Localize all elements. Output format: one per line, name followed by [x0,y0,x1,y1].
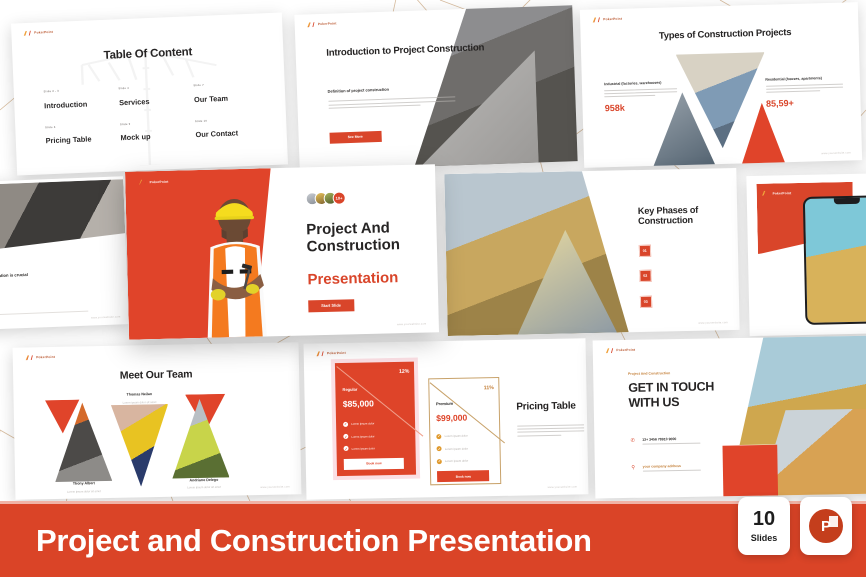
plan-name: Regular [342,387,357,392]
brand-logo: PokerPoint [138,179,169,185]
logo-mark-secondary-icon [29,355,34,360]
file-format-badge: P [800,497,852,555]
hero-title: Project And Construction [306,219,400,256]
section-subtitle: Definition of project construction [328,87,390,94]
toc-item-label: Introduction [44,99,87,110]
bottom-banner: Project and Construction Presentation [0,504,866,577]
toc-grid: Slide 2 - 3 Introduction Slide 4 Service… [44,82,271,149]
slide-count-value: 10 [753,509,775,529]
plan-feature-label: Lorem ipsum dolor [445,434,468,438]
industrial-photo [0,179,126,258]
contact-phone-value: 13+ 3456 78910 9000 [642,437,700,442]
slide-key-phases[interactable]: Key Phases of Construction 01 02 03 www.… [444,168,739,336]
slide-pricing-table[interactable]: PokerPoint 12% Regular $85,000 ✓ Lorem i… [304,338,589,499]
member-name: Thony Albert [44,481,124,487]
page-title: Types of Construction Projects [625,25,825,42]
phase-row: 01 [639,243,736,257]
plan-feature-label: Lorem ipsum dolor [445,459,468,463]
toc-item-number: Slide 9 [120,120,195,126]
logo-text: PokerPoint [603,17,622,22]
discount-badge: 11% [484,385,494,391]
avatar-more-count: 10+ [332,192,345,205]
slide-left-partial[interactable]: Team The coordination is crucial efficie… [0,176,129,332]
start-slide-button[interactable]: Start Slide [308,299,354,312]
slide-mockup[interactable]: PokerPoint Clean Mockup + + [746,172,866,336]
plan-feature: ✓ Lorem ipsum dolor [344,445,410,451]
plan-feature: ✓ Lorem ipsum dolor [437,445,495,451]
phone-icon: ✆ [629,438,636,445]
badge-group: 10 Slides P [738,497,852,555]
toc-item-label: Our Contact [195,129,238,140]
book-now-button-regular[interactable]: Book now [344,458,404,470]
divider [0,311,88,317]
slide-count-label: Slides [751,533,778,543]
page-title: Key Phases of Construction [638,204,732,228]
check-icon: ✓ [344,446,349,451]
member-photo-2 [111,404,170,487]
toc-item-label: Our Team [194,94,228,104]
slide-hero-title[interactable]: PokerPoint 10+ Project And Construction … [125,164,439,340]
column-heading: Industrial (factories, warehouses) [604,80,676,87]
stat-value-residential: 85,59+ [766,97,844,109]
slide-count-badge: 10 Slides [738,497,790,555]
logo-text: PokerPoint [772,191,791,195]
toc-item-our-team[interactable]: Slide 7 Our Team [193,82,269,108]
brand-logo: PokerPoint [22,29,53,35]
watermark: www.yourwebsite.com [91,316,121,320]
logo-text: PokerPoint [616,348,635,352]
avatar-group: 10+ [305,192,345,206]
logo-mark-secondary-icon [311,22,316,27]
brand-logo: PokerPoint [591,17,622,23]
construction-worker-photo [166,188,306,339]
logo-text: PokerPoint [36,355,55,359]
logo-mark-secondary-icon [765,191,770,196]
caption-primary: Team The coordination is crucial [0,270,83,280]
slide-types-of-construction[interactable]: PokerPoint Types of Construction Project… [580,2,862,168]
logo-text: PokerPoint [150,180,169,184]
watermark: www.yourwebsite.com [260,485,290,489]
logo-text: PokerPoint [327,351,346,355]
phone-mockup [803,195,866,325]
plan-name: Premium [436,401,453,406]
brand-logo: PokerPoint [604,348,635,354]
column-industrial: Industrial (factories, warehouses) 958k [604,80,677,114]
check-icon: ✓ [437,434,442,439]
watermark: www.yourwebsite.com [548,485,578,489]
pricing-card-premium[interactable]: 11% Premium $99,000 ✓ Lorem ipsum dolor … [428,377,501,484]
toc-item-our-contact[interactable]: Slide 10 Our Contact [195,117,271,143]
member-photo-3 [171,398,230,478]
toc-item-number: Slide 10 [195,117,270,123]
banner-title: Project and Construction Presentation [36,523,592,559]
watermark: www.yourwebsite.com [821,151,851,155]
discount-badge: 12% [399,369,410,375]
hero-title-accent: Presentation [307,269,398,288]
powerpoint-icon: P [809,509,843,543]
phase-row: 03 [640,294,737,308]
plan-feature-label: Lorem ipsum dolor [351,434,374,438]
pricing-card-regular[interactable]: 12% Regular $85,000 ✓ Lorem ipsum dolor … [335,362,416,476]
phase-number: 02 [639,270,651,282]
plan-feature-label: Lorem ipsum dolor [352,446,375,450]
phone-notch [833,198,860,205]
plan-price: $85,000 [343,399,374,410]
logo-text: PokerPoint [318,22,337,27]
page-title: GET IN TOUCH WITH US [628,378,779,410]
logo-mark-secondary-icon [596,17,601,22]
plan-price: $99,000 [436,412,467,423]
member-name: Andriano Delego [164,477,244,483]
logo-text: PokerPoint [34,30,53,35]
brand-logo: PokerPoint [315,351,346,357]
toc-item-introduction[interactable]: Slide 2 - 3 Introduction [44,88,120,114]
column-heading: Residential (houses, apartments) [765,75,843,82]
watermark: www.yourwebsite.com [698,321,728,325]
plan-feature: ✓ Lorem ipsum dolor [343,420,409,426]
book-now-button-premium[interactable]: Book now [437,470,489,482]
slide-get-in-touch[interactable]: PokerPoint Project And Construction GET … [593,335,866,498]
plan-feature: ✓ Lorem ipsum dolor [343,433,409,439]
member-role: Lorem ipsum dolor sit amet [94,399,186,405]
toc-item-number: Slide 2 - 3 [44,88,119,94]
toc-item-label: Pricing Table [45,135,91,146]
column-residential: Residential (houses, apartments) 85,59+ [765,75,844,109]
plan-feature: ✓ Lorem ipsum dolor [437,433,495,439]
brand-logo: PokerPoint [24,355,55,361]
powerpoint-page-shape [829,516,838,527]
slide-meet-our-team[interactable]: PokerPoint Meet Our Team Thomas Neilan L… [13,342,302,499]
logo-mark-secondary-icon [609,348,614,353]
watermark: www.yourwebsite.com [397,323,427,327]
contact-note [643,469,701,471]
plan-feature-label: Lorem ipsum dolor [351,422,374,426]
member-role: Lorem ipsum dolor sit amet [38,488,130,494]
check-icon: ✓ [437,446,442,451]
page-title-line2: WITH US [628,395,679,410]
check-icon: ✓ [343,434,348,439]
slide-table-of-content[interactable]: PokerPoint Table Of Content Slide 2 - 3 … [11,13,288,176]
toc-item-pricing-table[interactable]: Slide 5 Pricing Table [45,123,121,149]
brand-logo: PokerPoint [306,21,337,27]
stat-value-industrial: 958k [605,101,678,113]
toc-item-label: Mock up [120,132,150,142]
toc-item-number: Slide 5 [45,123,120,129]
check-icon: ✓ [437,459,442,464]
toc-item-mock-up[interactable]: Slide 9 Mock up [120,120,196,146]
check-icon: ✓ [343,422,348,427]
member-role: Lorem ipsum dolor sit amet [158,485,250,491]
logo-mark-secondary-icon [27,30,32,35]
eyebrow-label: Project And Construction [628,371,670,376]
member-name: Thomas Neilan [99,392,179,398]
page-title: Pricing Table [516,400,588,413]
logo-mark-secondary-icon [143,180,148,185]
page-title-line1: GET IN TOUCH [628,380,714,395]
page-title: Meet Our Team [13,367,299,385]
logo-mark-secondary-icon [320,351,325,356]
brand-logo: PokerPoint [760,190,791,196]
toc-item-label: Services [119,97,150,107]
plan-feature: ✓ Lorem ipsum dolor [437,458,495,464]
red-triangle-shape [738,102,787,168]
body-text [517,424,585,438]
plan-feature-label: Lorem ipsum dolor [445,446,468,450]
phase-number: 01 [639,244,651,256]
toc-item-services[interactable]: Slide 4 Services [118,85,194,111]
banner-top-line [0,501,866,504]
contact-note [642,443,700,445]
slide-introduction[interactable]: PokerPoint Introduction to Project Const… [294,5,577,171]
hero-title-line2: Construction [306,236,400,255]
phase-row: 02 [639,268,736,282]
phase-number: 03 [640,296,652,308]
hero-title-line1: Project And [306,219,390,238]
location-pin-icon: ⚲ [630,465,637,472]
contact-address-value: your company address [643,463,701,468]
see-more-button[interactable]: See More [329,130,381,143]
